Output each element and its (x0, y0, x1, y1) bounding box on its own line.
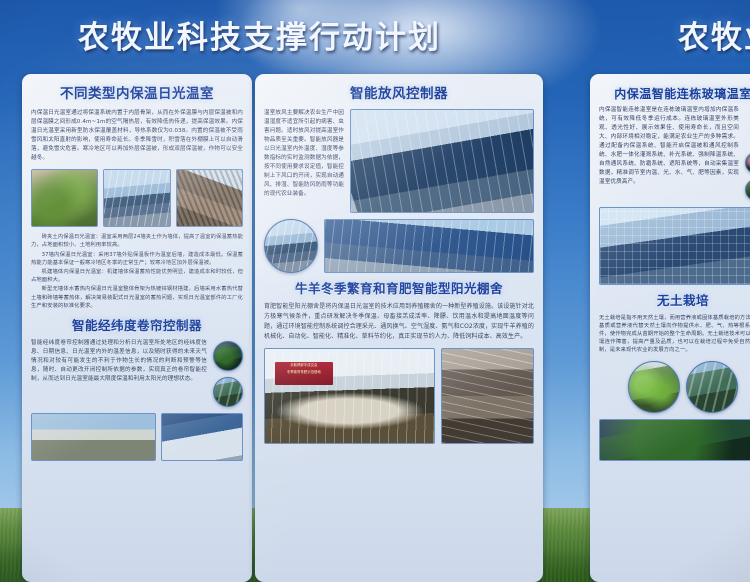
photo-greenhouse-tunnel (103, 169, 170, 227)
photo-bubble-hydroponic-system (686, 361, 738, 413)
panel-right: 内保温智能连栋玻璃温室 内保温智能连栋温室是在连栋玻璃温室内增加内保温系统，可有… (590, 74, 750, 582)
paragraph-37-wall: 37墙内保温日光温室：采用37墙外贴保温板作为温室后墙，建造成本最低。保温蓄热能… (31, 251, 243, 267)
body-text-soilless-cultivation: 无土栽培是指不用天然土壤，而用营养液或固体基质栽培的方法。固体基质或营养液代替天… (599, 314, 750, 355)
body-text-curtain-controller: 智能经纬度卷帘控制器通过处理和分析日光温室所处地区的经纬度信息、日期信息、日光温… (31, 339, 207, 384)
paragraph-brick-soil-wall: 砖夹土内保温日光温室：温室采用两层24墙夹土作为墙体，提高了温室的保温蓄热能力，… (31, 233, 243, 249)
photo-row-curtain-controller (31, 413, 243, 461)
body-text-vent-controller: 温室放风主要解决农业生产中因温湿度不适宜所引起的病害、虫害问题。适时放风对提高温… (264, 109, 344, 199)
photo-bubble-hydroponic-lettuce (628, 361, 680, 413)
photo-curtain-control-panel (161, 413, 243, 461)
vent-photo-row (264, 219, 534, 273)
photo-curtain-greenhouse-exterior (31, 413, 156, 461)
detail-text-greenhouse-types: 砖夹土内保温日光温室：温室采用两层24墙夹土作为墙体，提高了温室的保温蓄热能力，… (31, 233, 243, 310)
photo-sheep-shed-interior: 未取得鲜羊成交会 冬季繁育育肥示范基地 (264, 348, 435, 444)
photo-greenhouse-roof (176, 169, 243, 227)
banner-line-2: 冬季繁育育肥示范基地 (275, 369, 332, 375)
photo-soilless-greenhouse (599, 419, 750, 461)
heading-soilless-cultivation: 无土栽培 (599, 293, 750, 309)
heading-vent-controller: 智能放风控制器 (264, 86, 534, 103)
panel-center: 智能放风控制器 温室放风主要解决农业生产中因温湿度不适宜所引起的病害、虫害问题。… (255, 74, 543, 582)
intro-text-greenhouse-types: 内保温日光温室通过将保温系统内置于内层骨架，从而在外保温膜与内层保温被和内层保温… (31, 109, 243, 163)
paragraph-wall-free-water: 新型无墙体水蓄热内保温日光温室整体骨架为热镀锌钢材搭建，后墙采用水蓄热代替土墙和… (31, 285, 243, 310)
heading-glass-greenhouse: 内保温智能连栋玻璃温室 (599, 87, 750, 102)
livestock-photo-row: 未取得鲜羊成交会 冬季繁育育肥示范基地 (264, 348, 534, 444)
soilless-photo-row (599, 361, 750, 413)
vent-controller-row: 温室放风主要解决农业生产中因温湿度不适宜所引起的病害、虫害问题。适时放风对提高温… (264, 109, 534, 213)
glass-greenhouse-row: 内保温智能连栋温室是在连栋玻璃温室内增加内保温系统，可有效降低冬季运行成本。连栋… (599, 106, 750, 201)
board-title-secondary: 农牧业 (678, 12, 750, 57)
photo-red-banner: 未取得鲜羊成交会 冬季繁育育肥示范基地 (275, 362, 332, 385)
photo-bubble-curtain-roll (213, 377, 243, 407)
heading-greenhouse-types: 不同类型内保温日光温室 (31, 86, 243, 103)
heading-curtain-controller: 智能经纬度卷帘控制器 (31, 318, 243, 334)
banner-line-1: 未取得鲜羊成交会 (275, 362, 332, 368)
paragraph-machine-wall: 机建墙体内保温日光温室：机建墙体保温蓄热性能优势明显，建造成本和时较低，但占地面… (31, 268, 243, 284)
photo-greenhouse-crops (31, 169, 98, 227)
photo-bubble-curtain-night (213, 341, 243, 371)
photo-cattle-feeding (441, 348, 534, 444)
photo-bubble-glass-tomato (745, 179, 750, 201)
body-text-glass-greenhouse: 内保温智能连栋温室是在连栋玻璃温室内增加内保温系统，可有效降低冬季运行成本。连栋… (599, 106, 739, 187)
photo-glass-greenhouse-interior (599, 207, 750, 285)
curtain-controller-row: 智能经纬度卷帘控制器通过处理和分析日光温室所处地区的经纬度信息、日期信息、日光温… (31, 339, 243, 407)
exhibition-board-photo: 农牧业科技支撑行动计划 农牧业 不同类型内保温日光温室 内保温日光温室通过将保温… (0, 0, 750, 582)
photo-bubble-vent-opening (264, 219, 318, 273)
heading-livestock-shed: 牛羊冬季繁育和育肥智能型阳光棚舍 (264, 281, 534, 297)
board-title-main: 农牧业科技支撑行动计划 (78, 12, 441, 57)
photo-row-greenhouse-types (31, 169, 243, 227)
body-text-livestock-shed: 育肥智能型阳光棚舍是将内保温日光温室的技术应用到养殖棚舍的一种新型养殖设施。该设… (264, 302, 534, 343)
title-band: 农牧业科技支撑行动计划 农牧业 (0, 0, 750, 62)
intro-split-row: 内保温日光温室通过将保温系统内置于内层骨架，从而在外保温膜与内层保温被和内层保温… (31, 109, 243, 163)
panel-left: 不同类型内保温日光温室 内保温日光温室通过将保温系统内置于内层骨架，从而在外保温… (22, 74, 252, 582)
photo-vent-greenhouse-row (324, 219, 534, 273)
photo-bubble-glass-flowers (745, 152, 750, 174)
photo-vent-tunnel-roof (350, 109, 534, 213)
